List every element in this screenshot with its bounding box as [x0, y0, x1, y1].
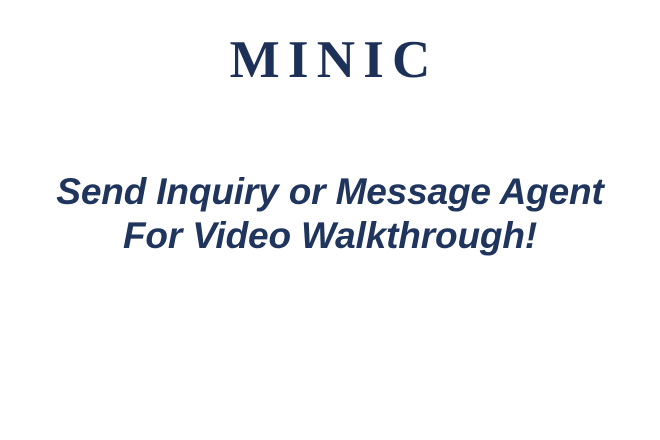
- brand-wordmark-text: MINIC: [221, 34, 438, 87]
- headline-line-2: For Video Walkthrough!: [0, 214, 660, 258]
- promotional-slide: MINIC Send Inquiry or Message Agent For …: [0, 0, 660, 440]
- brand-logo: MINIC: [0, 34, 660, 87]
- headline: Send Inquiry or Message Agent For Video …: [0, 170, 660, 258]
- headline-line-1: Send Inquiry or Message Agent: [0, 170, 660, 214]
